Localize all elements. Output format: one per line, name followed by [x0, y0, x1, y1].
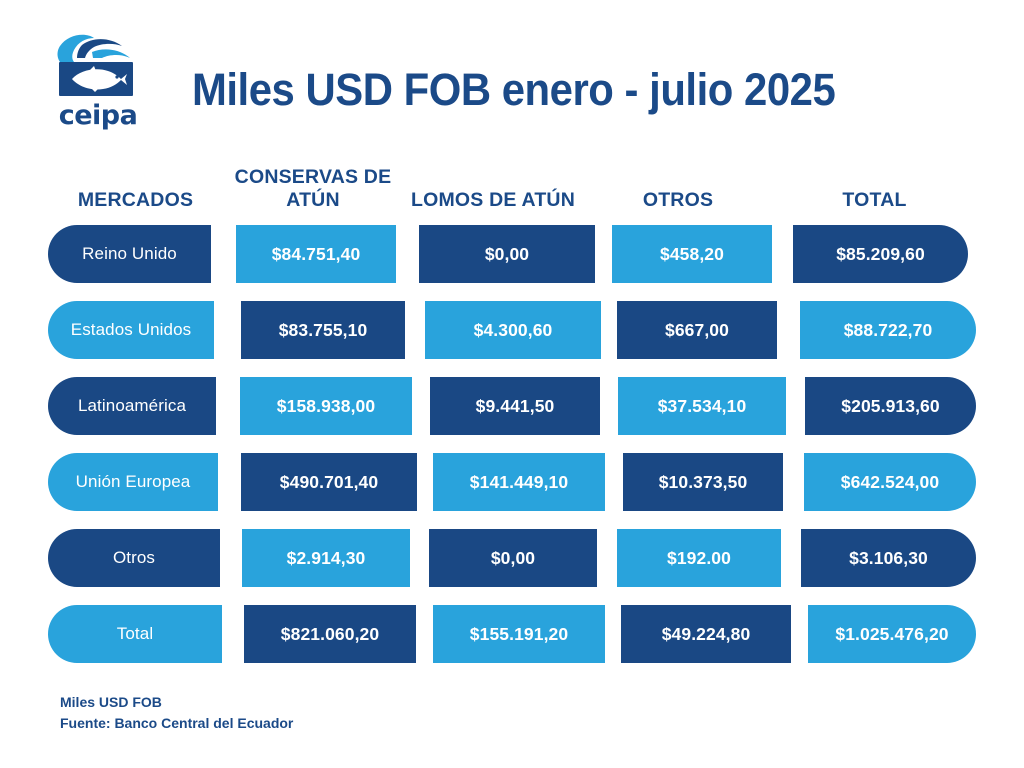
- row-label-otros: Otros: [48, 529, 220, 587]
- cell-conservas: $158.938,00: [240, 377, 412, 435]
- column-header-lomos: LOMOS DE ATÚN: [403, 189, 583, 216]
- cell-total: $88.722,70: [800, 301, 976, 359]
- table-row: Otros $2.914,30 $0,00 $192.00 $3.106,30: [48, 520, 976, 596]
- cell-conservas: $84.751,40: [236, 225, 396, 283]
- cell-total: $85.209,60: [793, 225, 968, 283]
- cell-otros: $10.373,50: [623, 453, 783, 511]
- cell-lomos: $0,00: [429, 529, 597, 587]
- cell-total: $642.524,00: [804, 453, 976, 511]
- table-row: Unión Europea $490.701,40 $141.449,10 $1…: [48, 444, 976, 520]
- cell-lomos: $141.449,10: [433, 453, 605, 511]
- column-header-conservas: CONSERVAS DE ATÚN: [223, 166, 403, 216]
- cell-total: $205.913,60: [805, 377, 976, 435]
- table-row: Latinoamérica $158.938,00 $9.441,50 $37.…: [48, 368, 976, 444]
- ceipa-logo: ceipa: [48, 30, 148, 130]
- cell-otros: $667,00: [617, 301, 777, 359]
- footer-line-units: Miles USD FOB: [60, 692, 293, 713]
- cell-otros: $49.224,80: [621, 605, 791, 663]
- cell-lomos: $0,00: [419, 225, 595, 283]
- page-header: ceipa Miles USD FOB enero - julio 2025: [0, 0, 1024, 140]
- export-markets-table: MERCADOS CONSERVAS DE ATÚN LOMOS DE ATÚN…: [48, 150, 976, 672]
- logo-wordmark: ceipa: [48, 102, 148, 129]
- cell-otros: $37.534,10: [618, 377, 786, 435]
- row-label-reino-unido: Reino Unido: [48, 225, 211, 283]
- column-header-otros: OTROS: [583, 189, 773, 216]
- cell-otros: $192.00: [617, 529, 781, 587]
- cell-lomos: $155.191,20: [433, 605, 605, 663]
- table-row: Total $821.060,20 $155.191,20 $49.224,80…: [48, 596, 976, 672]
- cell-total: $1.025.476,20: [808, 605, 976, 663]
- cell-total: $3.106,30: [801, 529, 976, 587]
- ceipa-fish-wave-logo-icon: [48, 30, 148, 102]
- table-header-row: MERCADOS CONSERVAS DE ATÚN LOMOS DE ATÚN…: [48, 150, 976, 216]
- table-row: Estados Unidos $83.755,10 $4.300,60 $667…: [48, 292, 976, 368]
- footer-note: Miles USD FOB Fuente: Banco Central del …: [60, 692, 293, 734]
- footer-line-source: Fuente: Banco Central del Ecuador: [60, 713, 293, 734]
- cell-conservas: $2.914,30: [242, 529, 410, 587]
- row-label-latinoamerica: Latinoamérica: [48, 377, 216, 435]
- table-row: Reino Unido $84.751,40 $0,00 $458,20 $85…: [48, 216, 976, 292]
- cell-conservas: $821.060,20: [244, 605, 416, 663]
- row-label-union-europea: Unión Europea: [48, 453, 218, 511]
- cell-lomos: $4.300,60: [425, 301, 601, 359]
- row-label-estados-unidos: Estados Unidos: [48, 301, 214, 359]
- cell-otros: $458,20: [612, 225, 772, 283]
- column-header-mercados: MERCADOS: [48, 189, 223, 216]
- row-label-total: Total: [48, 605, 222, 663]
- page-title: Miles USD FOB enero - julio 2025: [192, 64, 835, 116]
- cell-conservas: $490.701,40: [241, 453, 417, 511]
- cell-conservas: $83.755,10: [241, 301, 405, 359]
- column-header-total: TOTAL: [773, 189, 976, 216]
- cell-lomos: $9.441,50: [430, 377, 600, 435]
